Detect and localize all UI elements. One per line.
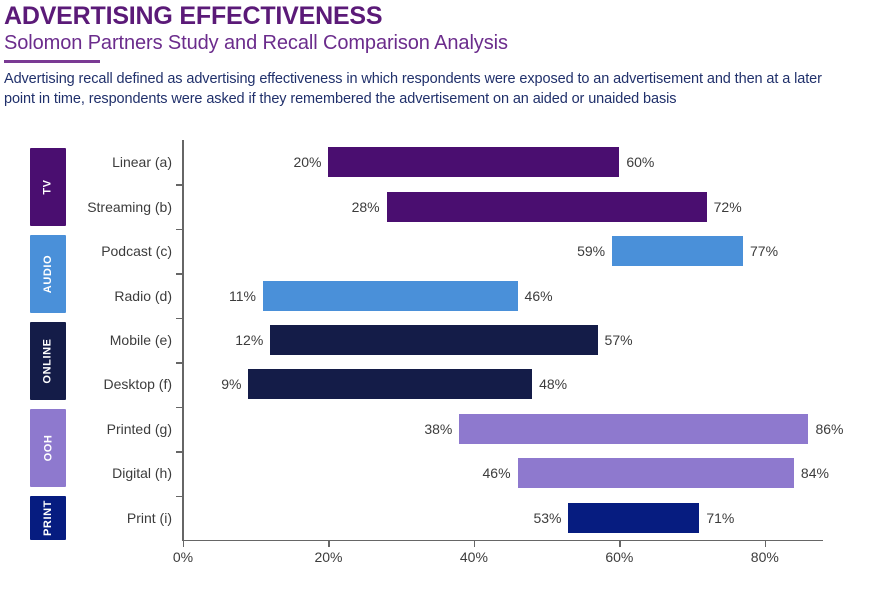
category-label-printed: Printed (g) [0, 421, 172, 437]
y-axis-tick [176, 496, 183, 498]
bar-streaming[interactable] [387, 192, 707, 222]
category-label-linear: Linear (a) [0, 154, 172, 170]
bar-start-value: 12% [235, 332, 263, 348]
y-axis-tick [176, 407, 183, 409]
bar-start-value: 46% [483, 465, 511, 481]
y-axis-tick [176, 318, 183, 320]
bar-desktop[interactable] [248, 369, 532, 399]
x-axis-tick [328, 540, 329, 547]
bar-end-value: 48% [539, 376, 567, 392]
bar-end-value: 71% [706, 510, 734, 526]
y-axis-tick [176, 229, 183, 231]
category-label-digital: Digital (h) [0, 465, 172, 481]
bar-radio[interactable] [263, 281, 518, 311]
bar-print[interactable] [568, 503, 699, 533]
category-labels: Linear (a)Streaming (b)Podcast (c)Radio … [80, 140, 180, 540]
x-axis-tick [765, 540, 766, 547]
bar-linear[interactable] [328, 147, 619, 177]
category-label-streaming: Streaming (b) [0, 199, 172, 215]
category-label-radio: Radio (d) [0, 288, 172, 304]
bar-end-value: 77% [750, 243, 778, 259]
bar-end-value: 72% [714, 199, 742, 215]
bar-end-value: 60% [626, 154, 654, 170]
category-label-desktop: Desktop (f) [0, 376, 172, 392]
category-label-mobile: Mobile (e) [0, 332, 172, 348]
bar-start-value: 38% [424, 421, 452, 437]
bar-end-value: 46% [525, 288, 553, 304]
plot-area: 0%20%40%60%80%20%60%28%72%59%77%11%46%12… [183, 140, 823, 540]
x-axis-label: 60% [605, 549, 633, 565]
y-axis-tick [176, 362, 183, 364]
y-axis-tick [176, 273, 183, 275]
bar-end-value: 84% [801, 465, 829, 481]
x-axis-label: 40% [460, 549, 488, 565]
bar-printed[interactable] [459, 414, 808, 444]
page-subtitle: Solomon Partners Study and Recall Compar… [4, 31, 864, 56]
bar-start-value: 20% [293, 154, 321, 170]
x-axis-label: 0% [173, 549, 193, 565]
y-axis-line [182, 140, 184, 540]
bar-podcast[interactable] [612, 236, 743, 266]
page-title: ADVERTISING EFFECTIVENESS [4, 2, 864, 31]
x-axis-tick [619, 540, 620, 547]
bar-start-value: 11% [229, 288, 256, 304]
description-text: Advertising recall defined as advertisin… [4, 69, 824, 109]
bar-start-value: 59% [577, 243, 605, 259]
group-tab-label: TV [42, 179, 54, 194]
chart-area: TVAUDIOONLINEOOHPRINT Linear (a)Streamin… [0, 140, 870, 589]
group-tab-label: OOH [42, 435, 54, 462]
bar-mobile[interactable] [270, 325, 597, 355]
x-axis-label: 80% [751, 549, 779, 565]
x-axis-tick [474, 540, 475, 547]
bar-end-value: 57% [605, 332, 633, 348]
y-axis-tick [176, 184, 183, 186]
advertising-effectiveness-chart-page: ADVERTISING EFFECTIVENESS Solomon Partne… [0, 0, 870, 589]
bar-start-value: 9% [221, 376, 241, 392]
x-axis-label: 20% [314, 549, 342, 565]
category-label-print: Print (i) [0, 510, 172, 526]
bar-end-value: 86% [815, 421, 843, 437]
x-axis-tick [183, 540, 184, 547]
category-label-podcast: Podcast (c) [0, 243, 172, 259]
bar-start-value: 53% [533, 510, 561, 526]
y-axis-tick [176, 451, 183, 453]
bar-start-value: 28% [352, 199, 380, 215]
header-divider [4, 60, 100, 63]
header: ADVERTISING EFFECTIVENESS Solomon Partne… [4, 2, 864, 109]
bar-digital[interactable] [518, 458, 794, 488]
x-axis-line [182, 540, 823, 541]
